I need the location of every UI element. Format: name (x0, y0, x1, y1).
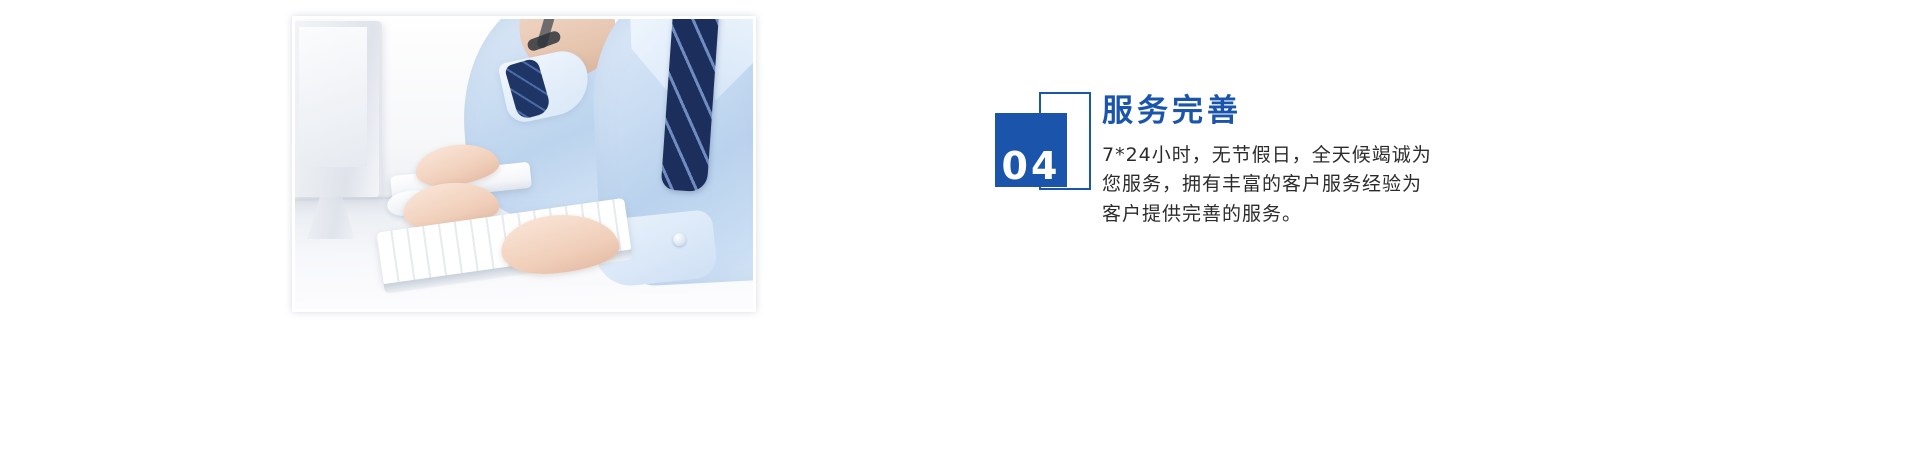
call-center-agents-photo (295, 19, 753, 309)
monitor-screen (299, 27, 367, 167)
feature-text-column: 服务完善 7*24小时，无节假日，全天候竭诚为 您服务，拥有丰富的客户服务经验为… (1102, 92, 1522, 229)
badge-filled-square: 04 (995, 113, 1067, 187)
monitor-icon (295, 21, 382, 197)
description-line: 7*24小时，无节假日，全天候竭诚为 (1102, 141, 1522, 170)
description-line: 客户提供完善的服务。 (1102, 200, 1522, 229)
feature-title: 服务完善 (1102, 92, 1522, 131)
photo-frame (292, 16, 756, 312)
badge-number: 04 (995, 147, 1067, 185)
shirt-button (673, 233, 686, 246)
description-line: 您服务，拥有丰富的客户服务经验为 (1102, 170, 1522, 199)
step-badge: 04 (995, 92, 1091, 194)
feature-section: 04 服务完善 7*24小时，无节假日，全天候竭诚为 您服务，拥有丰富的客户服务… (0, 0, 1920, 452)
feature-description: 7*24小时，无节假日，全天候竭诚为 您服务，拥有丰富的客户服务经验为 客户提供… (1102, 141, 1522, 229)
